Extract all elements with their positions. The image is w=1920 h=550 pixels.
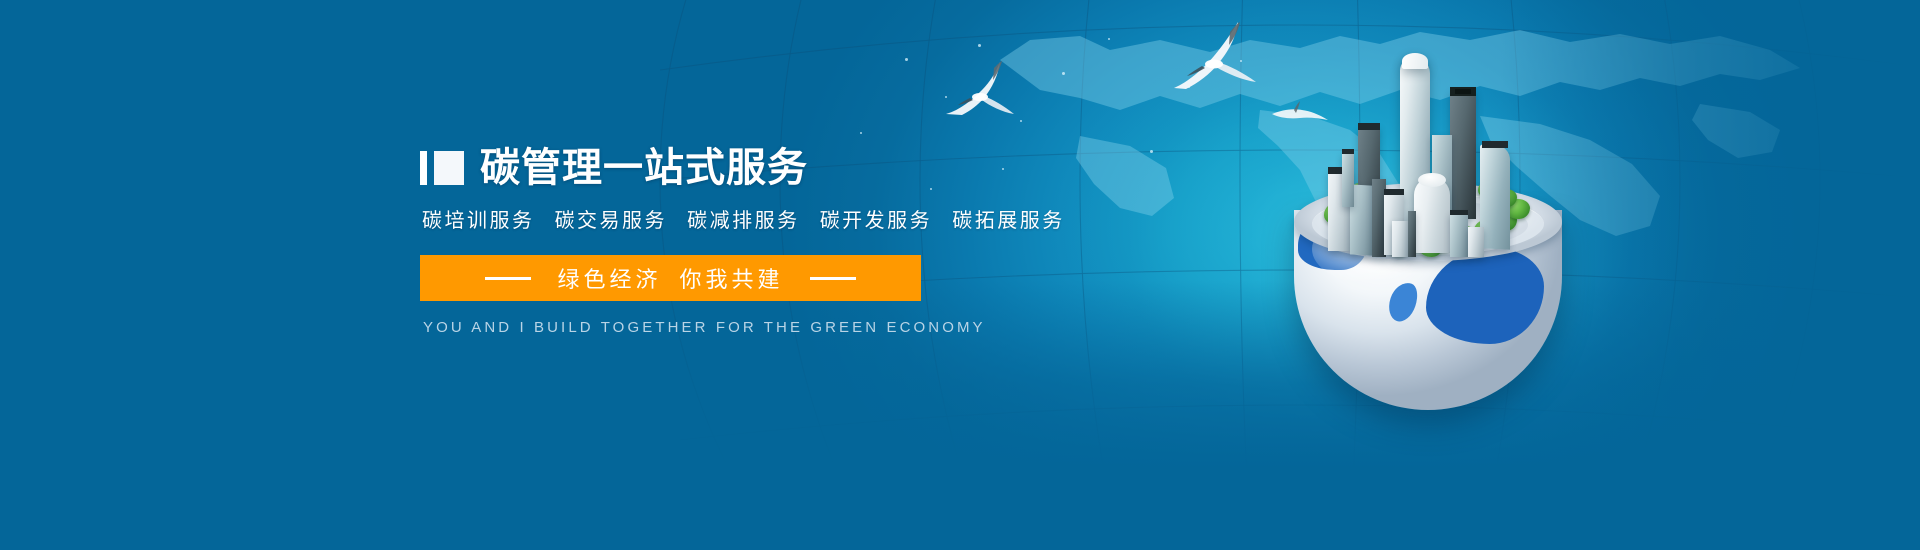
logo-square-icon [434,151,464,185]
3d-city-skyline [1272,35,1582,265]
slogan-bar[interactable]: 绿色经济你我共建 [420,255,921,301]
flying-seagull-icon [940,60,1024,122]
page-title: 碳管理一站式服务 [480,148,808,188]
slogan-right-dash-icon [810,277,856,280]
logo-mark [420,151,464,185]
slogan-left-dash-icon [485,277,531,280]
continent-shape [1384,279,1421,325]
slogan-text-right: 你我共建 [680,267,784,292]
logo-bar-icon [420,151,427,185]
service-item[interactable]: 碳减排服务 [687,210,800,232]
title-row: 碳管理一站式服务 [420,148,1140,188]
service-item[interactable]: 碳培训服务 [422,210,535,232]
slogan-text: 绿色经济你我共建 [557,262,783,294]
english-tagline: YOU AND I BUILD TOGETHER FOR THE GREEN E… [423,319,1140,336]
flying-seagull-icon [1170,22,1266,94]
slogan-text-left: 绿色经济 [557,267,661,292]
banner-text-content: 碳管理一站式服务 碳培训服务 碳交易服务 碳减排服务 碳开发服务 碳拓展服务 绿… [420,148,1140,336]
globe-city-illustration [1272,35,1582,395]
service-list: 碳培训服务 碳交易服务 碳减排服务 碳开发服务 碳拓展服务 [422,204,1140,233]
service-item[interactable]: 碳开发服务 [820,210,933,232]
hero-banner: 碳管理一站式服务 碳培训服务 碳交易服务 碳减排服务 碳开发服务 碳拓展服务 绿… [0,0,1920,550]
service-item[interactable]: 碳拓展服务 [952,210,1065,232]
service-item[interactable]: 碳交易服务 [555,210,668,232]
